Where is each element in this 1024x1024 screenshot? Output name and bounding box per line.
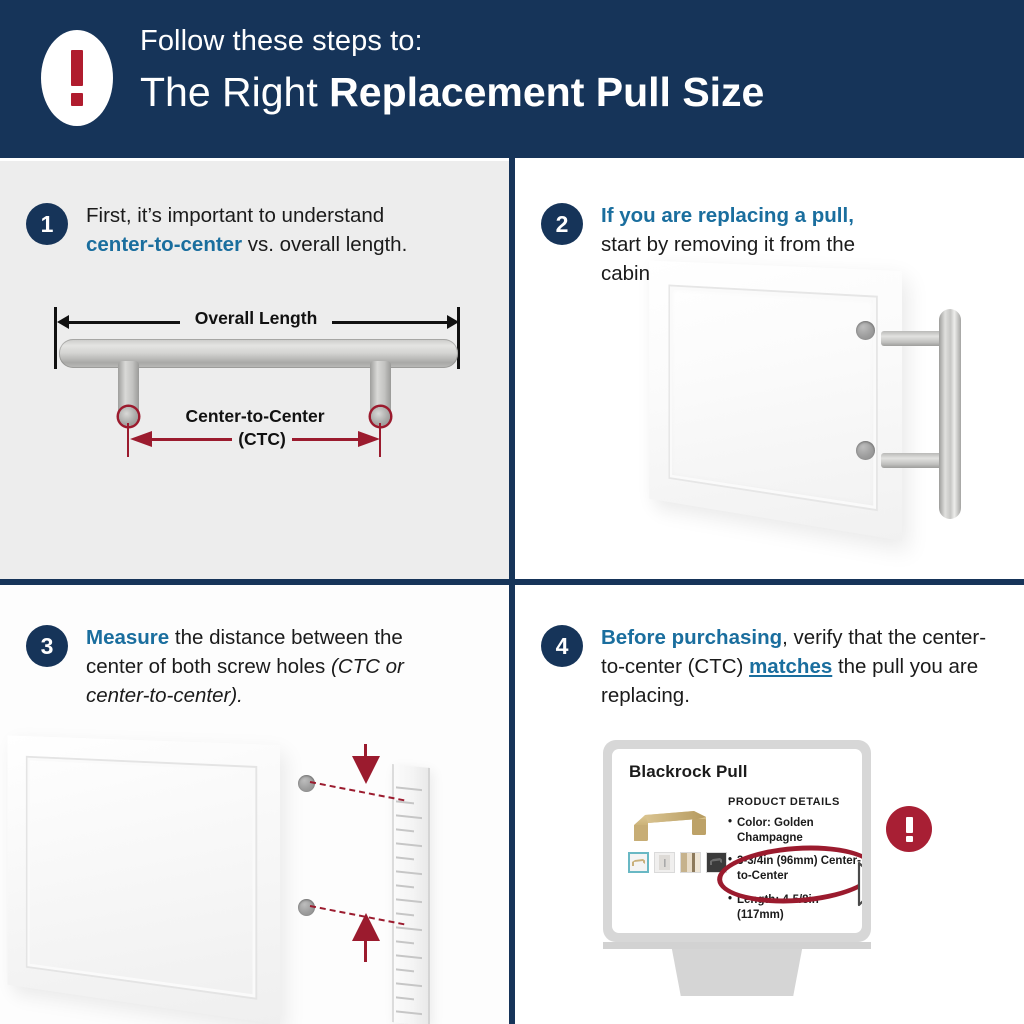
step-1-text: First, it’s important to understandcente… (86, 201, 407, 259)
alert-exclamation-icon (886, 806, 932, 852)
measure-guide-top (310, 781, 405, 801)
step-1-bold: center-to-center (86, 233, 242, 256)
removed-bar-pull (939, 309, 961, 519)
pull-post-bottom-2 (881, 453, 943, 468)
monitor-neck (603, 942, 871, 949)
overall-length-line-left (64, 321, 184, 324)
ctc-tick-left (127, 423, 129, 457)
cabinet-door-photo (515, 161, 1024, 579)
ruler (392, 764, 430, 1024)
title-light: The Right (140, 69, 329, 115)
pull-post-top-2 (881, 331, 943, 346)
ctc-arrow-right (358, 431, 380, 447)
measuring-illustration (0, 585, 509, 1024)
header-banner: Follow these steps to: The Right Replace… (0, 0, 1024, 158)
thumbnail-1[interactable] (628, 852, 649, 873)
ctc-label: Center-to-Center (140, 406, 370, 427)
step-number-1: 1 (26, 203, 68, 245)
ctc-abbrev-label: (CTC) (232, 429, 292, 450)
monitor-stand-base (663, 949, 811, 996)
product-thumbnails[interactable] (628, 852, 727, 873)
overall-length-label: Overall Length (180, 308, 332, 329)
monitor-screen: Blackrock Pull (612, 749, 862, 933)
header-text-block: Follow these steps to: The Right Replace… (140, 26, 764, 116)
ctc-line-left (152, 438, 240, 441)
ctc-arrow-left (130, 431, 152, 447)
product-details-heading: PRODUCT DETAILS (728, 796, 862, 808)
product-title: Blackrock Pull (629, 762, 748, 782)
mouse-pointer-icon (855, 861, 862, 917)
door-panel-inset-2 (668, 285, 877, 512)
measure-arrow-down-icon (352, 756, 380, 784)
cabinet-door-2 (649, 261, 902, 541)
measure-arrow-up-icon (352, 913, 380, 941)
header-kicker: Follow these steps to: (140, 26, 764, 58)
product-detail-color: Color: Golden Champagne (728, 816, 862, 845)
step-panel-1: 1 First, it’s important to understandcen… (0, 161, 509, 579)
screw-hole-bottom-2 (856, 441, 875, 460)
door-panel-inset-3 (26, 756, 257, 1000)
cabinet-door-3 (8, 735, 280, 1024)
thumbnail-2[interactable] (654, 852, 675, 873)
thumbnail-3[interactable] (680, 852, 701, 873)
pull-dimension-diagram (0, 301, 509, 491)
infographic-root: Follow these steps to: The Right Replace… (0, 0, 1024, 1024)
measure-arrow-up-stem (364, 940, 367, 962)
step-1-line2-rest: vs. overall length. (242, 233, 407, 256)
monitor-frame: Blackrock Pull (603, 740, 871, 942)
page-title: The Right Replacement Pull Size (140, 70, 764, 116)
title-bold: Replacement Pull Size (329, 69, 764, 115)
step-1-line1: First, it’s important to understand (86, 204, 384, 227)
exclamation-icon (41, 30, 113, 126)
product-page-mockup: Blackrock Pull (515, 585, 1024, 1024)
product-hero-image (628, 795, 714, 847)
step-1-head: 1 First, it’s important to understandcen… (26, 201, 456, 259)
screw-hole-top-2 (856, 321, 875, 340)
overall-length-line-right (330, 321, 450, 324)
